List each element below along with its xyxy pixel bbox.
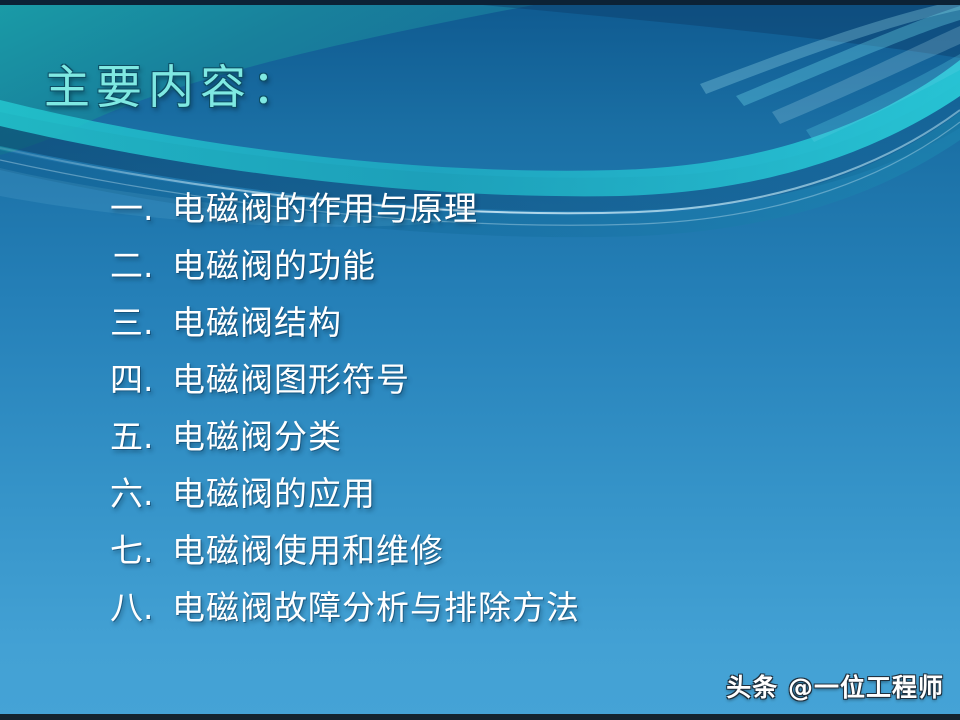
list-item-label: 电磁阀的功能 <box>172 246 376 285</box>
list-item: 二.电磁阀的功能 <box>110 237 910 294</box>
list-item: 六.电磁阀的应用 <box>110 465 910 522</box>
list-item-label: 电磁阀的作用与原理 <box>172 189 478 228</box>
top-edge-strip <box>0 0 960 5</box>
bottom-edge-strip <box>0 714 960 720</box>
list-item-label: 电磁阀结构 <box>172 303 342 342</box>
content-list: 一.电磁阀的作用与原理 二.电磁阀的功能 三.电磁阀结构 四.电磁阀图形符号 五… <box>110 180 910 636</box>
list-item-number: 五. <box>110 408 172 465</box>
list-item-label: 电磁阀的应用 <box>172 474 376 513</box>
page-title: 主要内容： <box>44 64 304 110</box>
list-item-label: 电磁阀图形符号 <box>172 360 410 399</box>
list-item-number: 六. <box>110 465 172 522</box>
presentation-slide: 主要内容： 一.电磁阀的作用与原理 二.电磁阀的功能 三.电磁阀结构 四.电磁阀… <box>0 0 960 720</box>
list-item: 七.电磁阀使用和维修 <box>110 522 910 579</box>
list-item-number: 三. <box>110 294 172 351</box>
list-item-label: 电磁阀分类 <box>172 417 342 456</box>
list-item-number: 七. <box>110 522 172 579</box>
watermark-text: 头条 @一位工程师 <box>726 668 944 704</box>
list-item-label: 电磁阀故障分析与排除方法 <box>172 588 580 627</box>
list-item-number: 四. <box>110 351 172 408</box>
list-item-number: 二. <box>110 237 172 294</box>
list-item-label: 电磁阀使用和维修 <box>172 531 444 570</box>
list-item: 八.电磁阀故障分析与排除方法 <box>110 579 910 636</box>
list-item: 一.电磁阀的作用与原理 <box>110 180 910 237</box>
list-item: 三.电磁阀结构 <box>110 294 910 351</box>
list-item-number: 一. <box>110 180 172 237</box>
list-item: 五.电磁阀分类 <box>110 408 910 465</box>
list-item-number: 八. <box>110 579 172 636</box>
list-item: 四.电磁阀图形符号 <box>110 351 910 408</box>
